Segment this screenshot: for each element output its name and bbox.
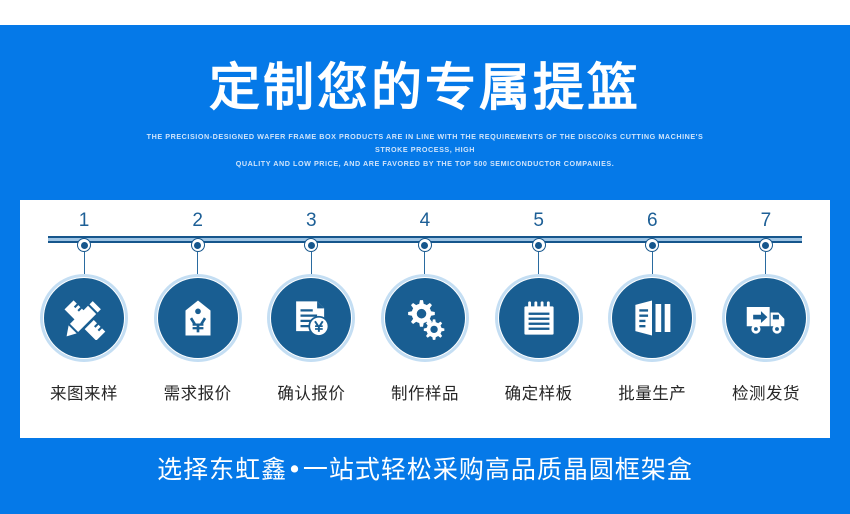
step-label: 制作样品 bbox=[374, 380, 476, 404]
process-step-3[interactable]: 3 bbox=[260, 200, 362, 438]
step-number: 4 bbox=[374, 200, 476, 230]
delivery-truck-icon bbox=[744, 296, 788, 340]
step-icon-circle[interactable] bbox=[612, 278, 692, 358]
page-title: 定制您的专属提篮 bbox=[0, 25, 850, 116]
footer-slogan: 选择东虹鑫•一站式轻松采购高品质晶圆框架盒 bbox=[0, 450, 850, 486]
pencil-ruler-icon bbox=[62, 296, 106, 340]
step-label: 来图来样 bbox=[33, 380, 135, 404]
timeline-node-dot bbox=[81, 242, 88, 249]
process-step-4[interactable]: 4 bbox=[374, 200, 476, 438]
step-icon-circle[interactable] bbox=[499, 278, 579, 358]
step-label: 确定样板 bbox=[488, 380, 590, 404]
process-step-5[interactable]: 5 bbox=[488, 200, 590, 438]
banner-header: 定制您的专属提篮 THE PRECISION-DESIGNED WAFER FR… bbox=[0, 25, 850, 200]
step-label: 检测发货 bbox=[715, 380, 817, 404]
step-label: 需求报价 bbox=[147, 380, 249, 404]
steps-row: 1 bbox=[20, 200, 830, 438]
step-number: 7 bbox=[715, 200, 817, 230]
timeline-stem bbox=[538, 252, 539, 278]
step-icon-circle[interactable] bbox=[726, 278, 806, 358]
process-steps-panel: 1 bbox=[20, 200, 830, 438]
mass-production-icon bbox=[631, 297, 673, 339]
timeline-node bbox=[759, 238, 773, 252]
step-number: 2 bbox=[147, 200, 249, 230]
timeline-node-dot bbox=[535, 242, 542, 249]
timeline-node-dot bbox=[762, 242, 769, 249]
timeline-stem bbox=[765, 252, 766, 278]
step-number: 3 bbox=[260, 200, 362, 230]
process-step-1[interactable]: 1 bbox=[33, 200, 135, 438]
banner-footer: 选择东虹鑫•一站式轻松采购高品质晶圆框架盒 bbox=[0, 450, 850, 486]
timeline-stem bbox=[652, 252, 653, 278]
timeline-node bbox=[532, 238, 546, 252]
timeline-node bbox=[304, 238, 318, 252]
timeline-node-dot bbox=[649, 242, 656, 249]
step-number: 5 bbox=[488, 200, 590, 230]
timeline-node-dot bbox=[308, 242, 315, 249]
process-step-2[interactable]: 2 bbox=[147, 200, 249, 438]
step-icon-circle[interactable] bbox=[271, 278, 351, 358]
timeline-node bbox=[418, 238, 432, 252]
timeline-node bbox=[191, 238, 205, 252]
step-icon-circle[interactable] bbox=[385, 278, 465, 358]
process-step-7[interactable]: 7 bbox=[715, 200, 817, 438]
subtitle-line-1: THE PRECISION-DESIGNED WAFER FRAME BOX P… bbox=[145, 130, 705, 157]
step-number: 1 bbox=[33, 200, 135, 230]
timeline-stem bbox=[311, 252, 312, 278]
subtitle-block: THE PRECISION-DESIGNED WAFER FRAME BOX P… bbox=[145, 130, 705, 170]
step-icon-circle[interactable] bbox=[158, 278, 238, 358]
step-icon-circle[interactable] bbox=[44, 278, 124, 358]
timeline-stem bbox=[197, 252, 198, 278]
process-step-6[interactable]: 6 bbox=[601, 200, 703, 438]
step-number: 6 bbox=[601, 200, 703, 230]
timeline-node-dot bbox=[194, 242, 201, 249]
timeline-stem bbox=[84, 252, 85, 278]
step-label: 批量生产 bbox=[601, 380, 703, 404]
timeline-stem bbox=[424, 252, 425, 278]
price-tag-yen-icon bbox=[178, 298, 218, 338]
gears-icon bbox=[403, 296, 447, 340]
notepad-icon bbox=[519, 298, 559, 338]
timeline-node bbox=[77, 238, 91, 252]
timeline-node bbox=[645, 238, 659, 252]
promo-banner: 定制您的专属提篮 THE PRECISION-DESIGNED WAFER FR… bbox=[0, 0, 850, 514]
subtitle-line-2: QUALITY AND LOW PRICE, AND ARE FAVORED B… bbox=[145, 157, 705, 170]
step-label: 确认报价 bbox=[260, 380, 362, 404]
document-yen-icon bbox=[290, 297, 332, 339]
